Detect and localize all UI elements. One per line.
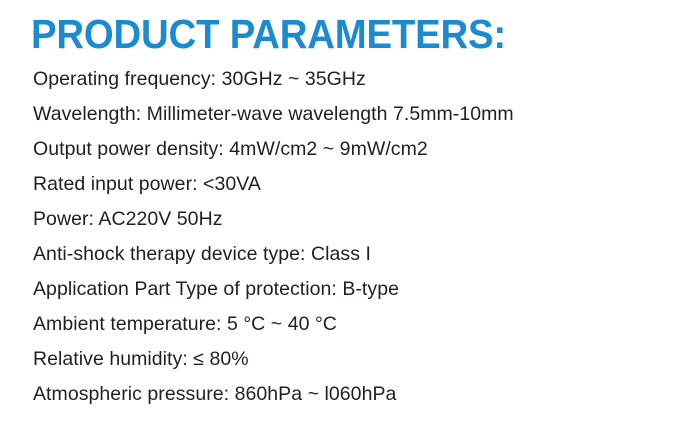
list-item: Ambient temperature: 5 °C ~ 40 °C <box>33 307 673 342</box>
list-item: Relative humidity: ≤ 80% <box>33 342 673 377</box>
list-item: Application Part Type of protection: B-t… <box>33 272 673 307</box>
list-item: Wavelength: Millimeter-wave wavelength 7… <box>33 97 673 132</box>
list-item: Anti-shock therapy device type: Class I <box>33 237 673 272</box>
page-title: PRODUCT PARAMETERS: <box>31 11 506 57</box>
list-item: Atmospheric pressure: 860hPa ~ l060hPa <box>33 377 673 412</box>
list-item: Power: AC220V 50Hz <box>33 202 673 237</box>
list-item: Operating frequency: 30GHz ~ 35GHz <box>33 62 673 97</box>
list-item: Rated input power: <30VA <box>33 167 673 202</box>
product-parameters-sheet: PRODUCT PARAMETERS: Operating frequency:… <box>0 0 700 424</box>
list-item: Output power density: 4mW/cm2 ~ 9mW/cm2 <box>33 132 673 167</box>
parameter-list: Operating frequency: 30GHz ~ 35GHz Wavel… <box>33 62 673 412</box>
